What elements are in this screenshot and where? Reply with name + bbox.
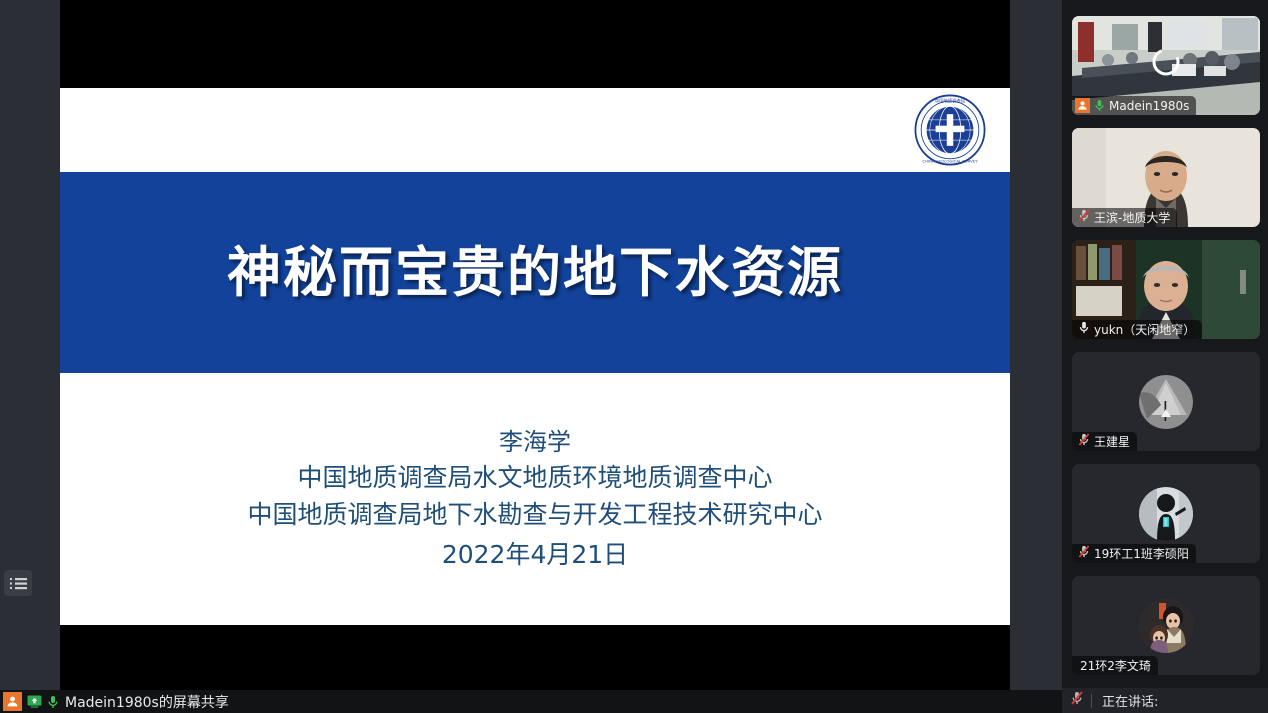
microphone-muted-icon	[1078, 209, 1090, 227]
microphone-muted-glyph	[1078, 545, 1090, 558]
slide-presenter-name: 李海学	[60, 425, 1010, 460]
microphone-glyph	[1078, 321, 1090, 334]
avatar	[1139, 375, 1193, 429]
microphone-icon	[1078, 321, 1090, 339]
person-glyph	[1077, 100, 1088, 111]
participant-label: Madein1980s	[1072, 96, 1196, 115]
participant-tile[interactable]: 王建星	[1072, 352, 1260, 451]
slide-title: 神秘而宝贵的地下水资源	[60, 243, 1010, 302]
list-menu-glyph	[10, 577, 27, 590]
participant-label: yukn（天闲地窄）	[1072, 320, 1202, 339]
avatar	[1139, 487, 1193, 541]
microphone-muted-icon	[1078, 545, 1090, 563]
participant-label: 21环2李文琦	[1072, 656, 1158, 675]
participant-name: 21环2李文琦	[1080, 657, 1151, 674]
person-glyph	[6, 695, 19, 708]
screen-share-status-bar: Madein1980s的屏幕共享	[0, 690, 1062, 713]
speaking-label: 正在讲话:	[1102, 691, 1158, 710]
avatar-image	[1139, 375, 1193, 429]
participants-list[interactable]: Madein1980s	[1062, 0, 1268, 688]
slide-date: 2022年4月21日	[60, 537, 1010, 574]
participant-tile[interactable]: Madein1980s	[1072, 16, 1260, 115]
slide-title-band: 神秘而宝贵的地下水资源	[60, 172, 1010, 373]
list-menu-icon[interactable]	[4, 570, 32, 596]
microphone-muted-icon	[1071, 691, 1083, 710]
participant-name: 王建星	[1094, 433, 1130, 450]
microphone-muted-glyph	[1071, 691, 1083, 705]
screen-share-label: Madein1980s的屏幕共享	[65, 692, 229, 712]
speaking-status-bar: 正在讲话:	[1062, 688, 1268, 713]
participant-label: 王滨-地质大学	[1072, 208, 1177, 227]
participant-label: 19环工1班李硕阳	[1072, 544, 1196, 563]
participant-name: yukn（天闲地窄）	[1094, 321, 1195, 338]
slide-header: 中国地质调查局 CHINA GEOLOGICAL SURVEY	[60, 88, 1010, 172]
screen-share-icon	[27, 695, 42, 708]
avatar-image	[1139, 487, 1193, 541]
participant-label: 王建星	[1072, 432, 1137, 451]
participant-tile[interactable]: 19环工1班李硕阳	[1072, 464, 1260, 563]
avatar	[1139, 599, 1193, 653]
microphone-icon	[47, 695, 59, 709]
avatar-image	[1139, 599, 1193, 653]
participant-name: 王滨-地质大学	[1094, 209, 1170, 226]
svg-text:CHINA GEOLOGICAL SURVEY: CHINA GEOLOGICAL SURVEY	[922, 158, 978, 163]
participant-tile[interactable]: yukn（天闲地窄）	[1072, 240, 1260, 339]
microphone-glyph	[1094, 99, 1105, 112]
microphone-muted-glyph	[1078, 433, 1090, 446]
microphone-muted-glyph	[1078, 209, 1090, 222]
slide-body: 李海学 中国地质调查局水文地质环境地质调查中心 中国地质调查局地下水勘查与开发工…	[60, 373, 1010, 625]
host-badge-icon	[1075, 98, 1090, 113]
microphone-muted-icon	[1078, 433, 1090, 451]
china-geological-survey-logo: 中国地质调查局 CHINA GEOLOGICAL SURVEY	[914, 94, 986, 166]
shared-screen-region: 中国地质调查局 CHINA GEOLOGICAL SURVEY 神秘而宝贵的地下…	[0, 0, 1062, 713]
meeting-window: 中国地质调查局 CHINA GEOLOGICAL SURVEY 神秘而宝贵的地下…	[0, 0, 1268, 713]
participants-panel: Madein1980s	[1062, 0, 1268, 713]
participant-tile[interactable]: 21环2李文琦	[1072, 576, 1260, 675]
participant-name: 19环工1班李硕阳	[1094, 545, 1189, 562]
participant-name: Madein1980s	[1109, 99, 1189, 113]
microphone-icon	[1090, 99, 1105, 112]
slide-org-line-1: 中国地质调查局水文地质环境地质调查中心	[60, 460, 1010, 497]
slide-org-line-2: 中国地质调查局地下水勘查与开发工程技术研究中心	[60, 497, 1010, 534]
participant-tile[interactable]: 王滨-地质大学	[1072, 128, 1260, 227]
person-badge-icon	[3, 692, 22, 711]
microphone-glyph	[47, 695, 59, 709]
screen-share-glyph	[27, 695, 42, 708]
divider	[1091, 694, 1092, 708]
presentation-slide: 中国地质调查局 CHINA GEOLOGICAL SURVEY 神秘而宝贵的地下…	[60, 88, 1010, 625]
